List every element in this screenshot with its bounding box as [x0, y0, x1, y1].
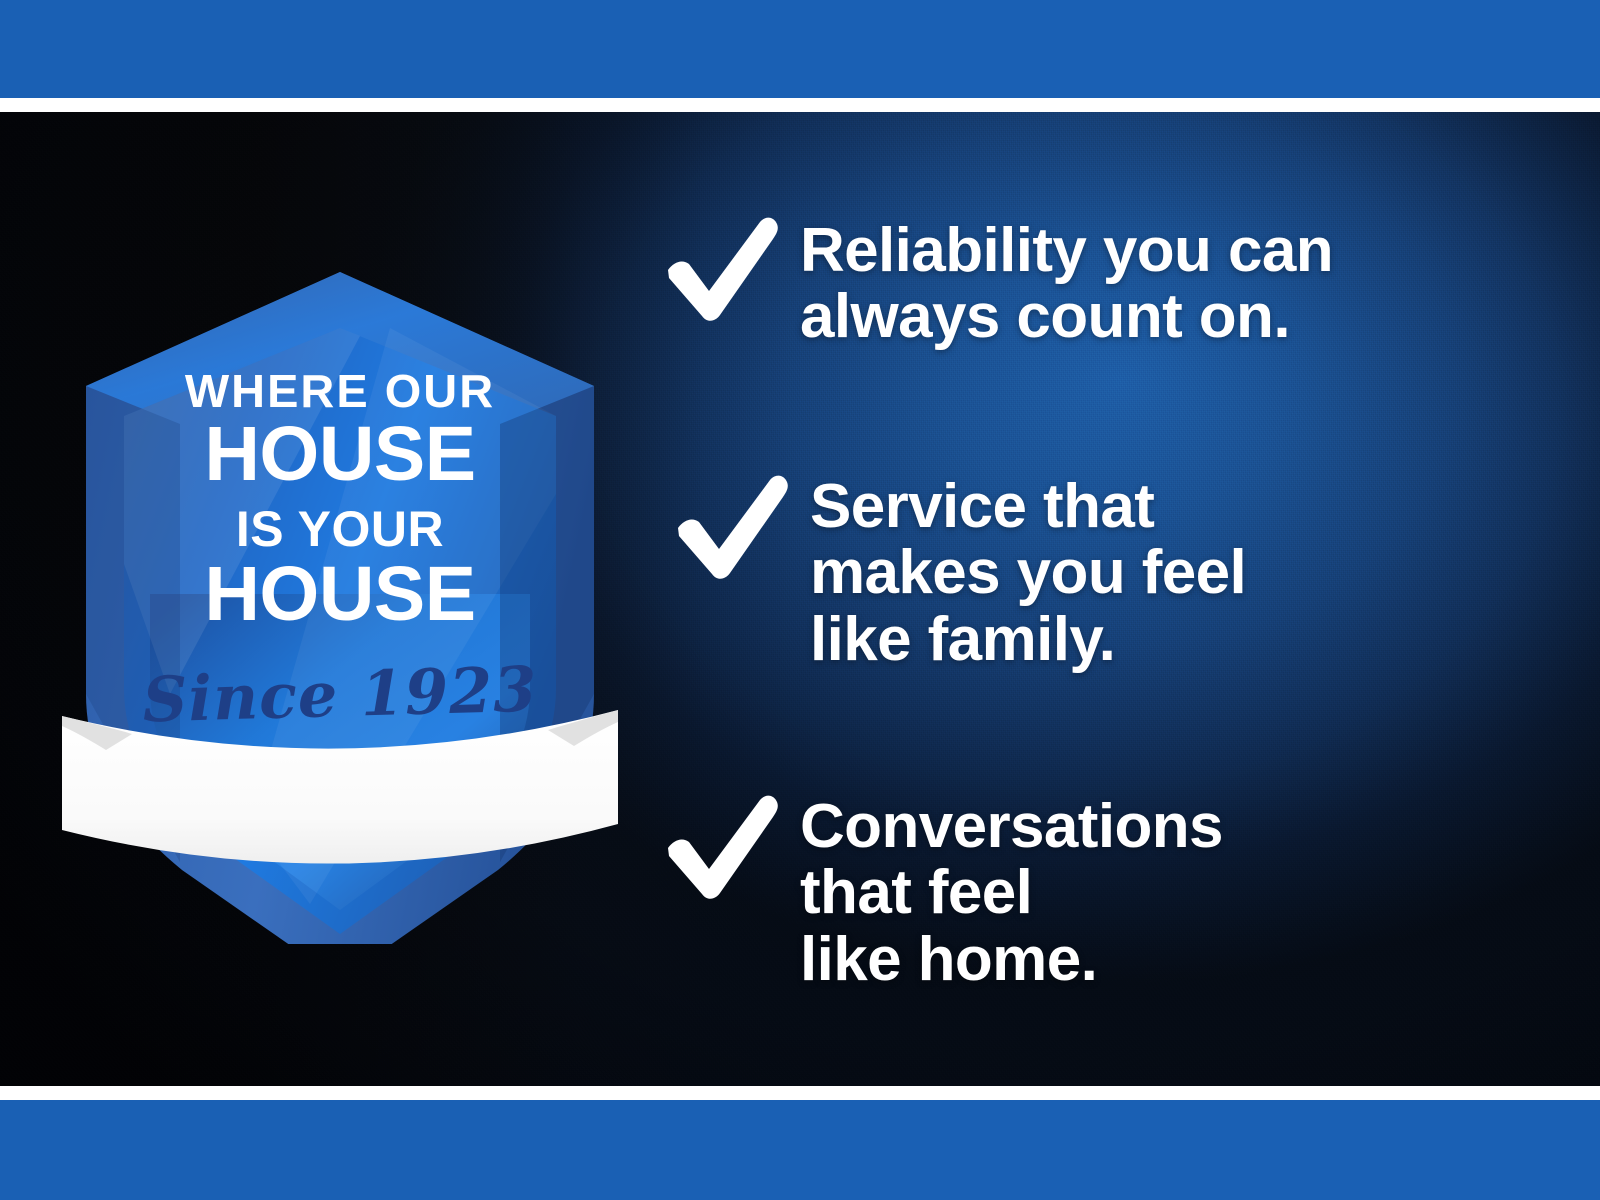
shield-logo: WHERE OUR HOUSE IS YOUR HOUSE Since 1923	[60, 264, 620, 944]
shield-graphic	[60, 264, 620, 944]
check-icon	[660, 790, 782, 908]
benefit-list: Reliability you can always count on. Ser…	[660, 0, 1520, 1200]
check-icon	[660, 212, 782, 330]
benefit-item-2: Service that makes you feel like family.	[670, 470, 1246, 673]
promo-poster: WHERE OUR HOUSE IS YOUR HOUSE Since 1923…	[0, 0, 1600, 1200]
benefit-item-1: Reliability you can always count on.	[660, 212, 1333, 351]
benefit-text-3: Conversations that feel like home.	[800, 790, 1223, 993]
benefit-text-2: Service that makes you feel like family.	[810, 470, 1246, 673]
benefit-item-3: Conversations that feel like home.	[660, 790, 1223, 993]
benefit-text-1: Reliability you can always count on.	[800, 212, 1333, 351]
check-icon	[670, 470, 792, 588]
